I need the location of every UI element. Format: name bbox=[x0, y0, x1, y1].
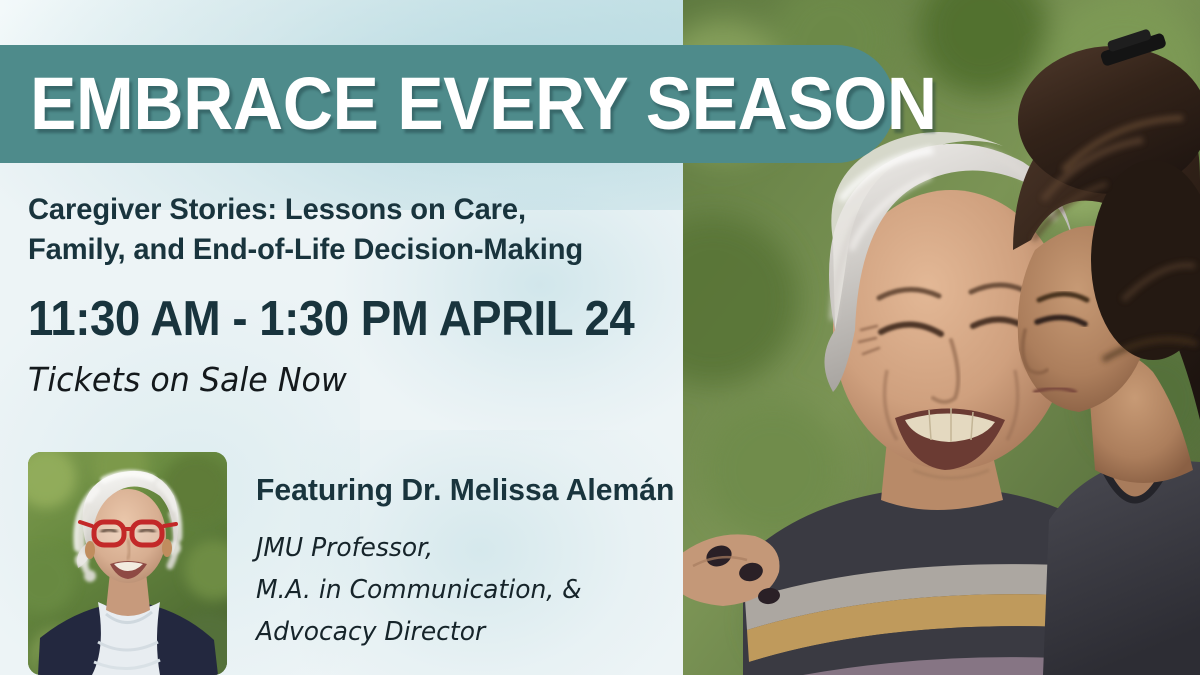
title-banner: EMBRACE EVERY SEASON bbox=[0, 45, 895, 163]
subtitle-line-2: Family, and End-of-Life Decision-Making bbox=[28, 230, 649, 270]
poster-title: EMBRACE EVERY SEASON bbox=[30, 67, 937, 141]
subtitle-line-1: Caregiver Stories: Lessons on Care, bbox=[28, 190, 649, 230]
credential-line-1: JMU Professor, bbox=[256, 527, 582, 569]
speaker-headshot bbox=[28, 452, 227, 675]
watercolor-wash-top bbox=[0, 0, 683, 46]
tickets-call-to-action[interactable]: Tickets on Sale Now bbox=[28, 360, 347, 400]
credential-line-3: Advocacy Director bbox=[256, 611, 582, 653]
speaker-featuring-line: Featuring Dr. Melissa Alemán bbox=[256, 474, 674, 505]
speaker-credentials: JMU Professor, M.A. in Communication, & … bbox=[256, 527, 582, 653]
event-poster: EMBRACE EVERY SEASON Caregiver Stories: … bbox=[0, 0, 1200, 675]
credential-line-2: M.A. in Communication, & bbox=[256, 569, 582, 611]
event-datetime: 11:30 AM - 1:30 PM APRIL 24 bbox=[28, 295, 634, 344]
poster-subtitle: Caregiver Stories: Lessons on Care, Fami… bbox=[28, 190, 649, 270]
watercolor-wash-b bbox=[330, 120, 683, 450]
